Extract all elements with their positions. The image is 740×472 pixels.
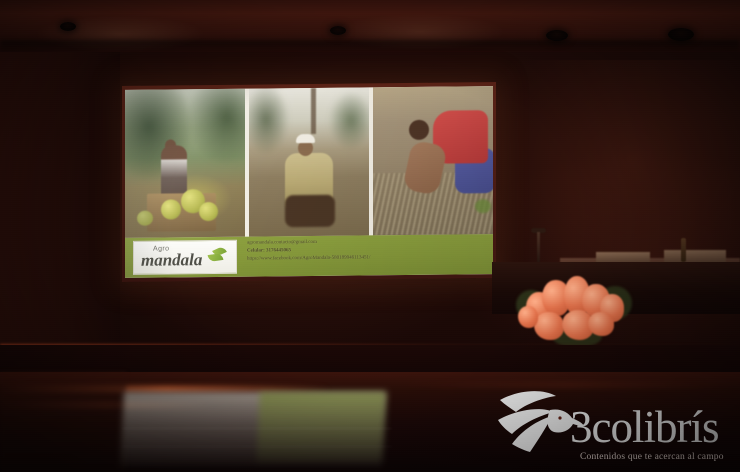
flower-arrangement (512, 272, 637, 348)
person-head (409, 119, 429, 139)
ceiling-spotlight (60, 22, 76, 31)
white-cap (296, 134, 315, 143)
water-bottle (681, 238, 686, 262)
leaf-icon (206, 248, 228, 264)
ceiling-spotlight (668, 28, 694, 41)
tree-foliage (245, 87, 289, 154)
slide-photo-row (125, 86, 493, 238)
screen-band-reflection (256, 392, 386, 462)
contact-phone-label: Celular: (247, 248, 265, 253)
soil-mound (285, 194, 335, 227)
ceiling-spotlight (330, 26, 346, 35)
ceiling-spotlight (546, 30, 568, 41)
watermark-tagline: Contenidos que te acercan al campo (580, 452, 724, 462)
presentation-slide: Agro mandala agromandala.contacto@gmail.… (125, 86, 493, 278)
microphone-stand (537, 232, 540, 266)
watermark-brand: 3colibrís (570, 405, 718, 450)
slide-photo-man-planting-seedling (245, 87, 369, 236)
tree-trunk (311, 88, 316, 134)
floor-seam (122, 446, 392, 447)
auditorium-photo: Agro mandala agromandala.contacto@gmail.… (0, 0, 740, 472)
slide-contact-block: agromandala.contacto@gmail.com Celular: … (247, 238, 370, 263)
floor-seam (122, 428, 392, 429)
projection-screen-frame: Agro mandala agromandala.contacto@gmail.… (122, 82, 496, 282)
floor-shadow (0, 372, 126, 472)
slide-footer-band: Agro mandala agromandala.contacto@gmail.… (125, 234, 493, 278)
contact-phone-number: 3176445065 (266, 248, 291, 253)
projection-screen: Agro mandala agromandala.contacto@gmail.… (125, 86, 493, 278)
contact-facebook: https://www.facebook.com/AgroMandala-580… (247, 254, 370, 263)
slide-photo-woman-with-fruit-harvest (125, 89, 245, 238)
tree-foliage (329, 91, 369, 149)
watermark-3colibris: 3colibrís Contenidos que te acercan al c… (498, 382, 734, 468)
tree-foliage (187, 89, 245, 166)
slide-photo-woman-planting-in-field (369, 86, 493, 235)
seedling (475, 199, 491, 213)
left-wall-panel (0, 52, 120, 370)
person-body (161, 146, 187, 198)
agromandala-logo: Agro mandala (133, 240, 237, 275)
ceiling-beam (0, 40, 740, 52)
